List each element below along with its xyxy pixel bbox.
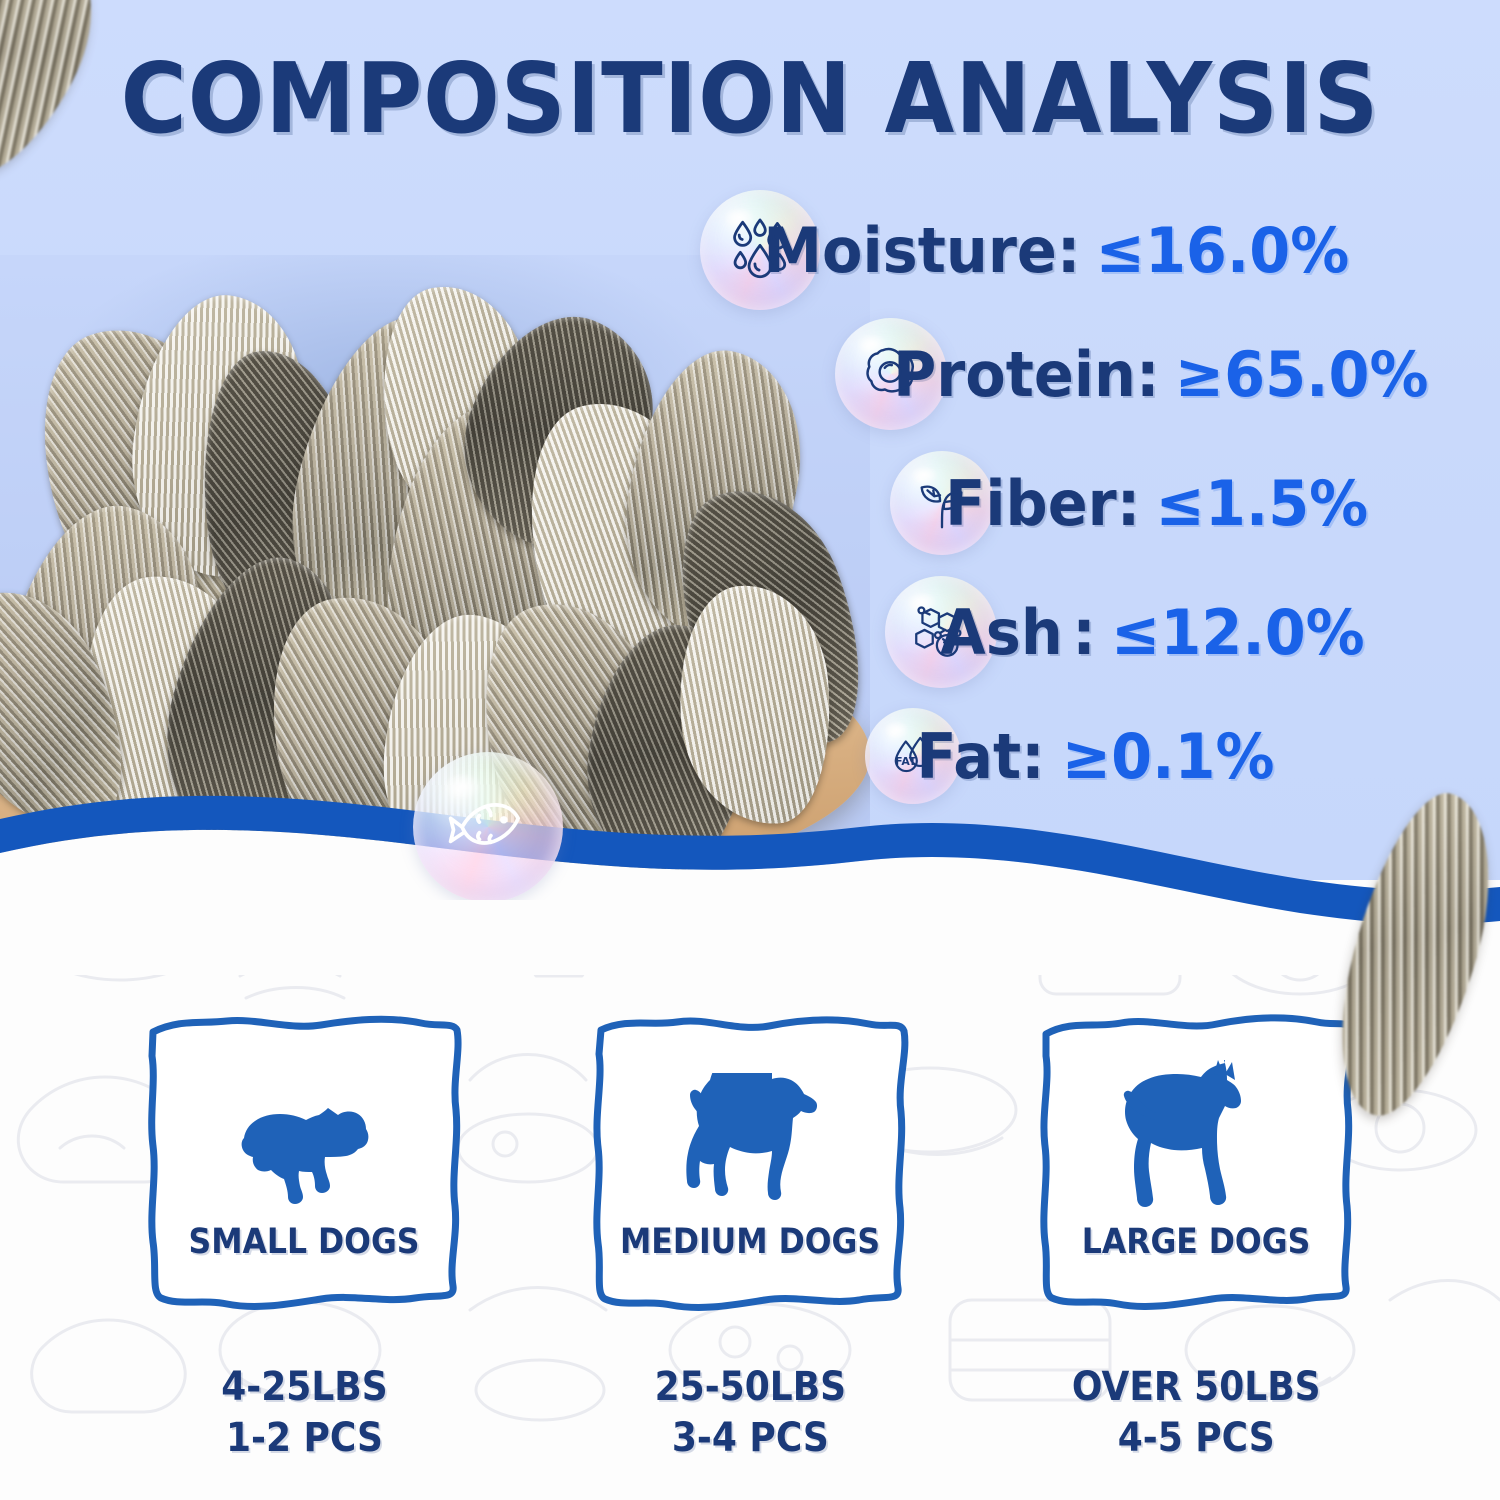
composition-separator-moisture: : xyxy=(1057,214,1081,287)
svg-text:FAT: FAT xyxy=(895,755,917,768)
feeding-card-title-large: LARGE DOGS xyxy=(1048,1222,1345,1262)
feeding-card-weight-small: 4-25LBS xyxy=(221,1362,387,1413)
composition-separator-protein: : xyxy=(1136,338,1160,411)
composition-separator-fat: : xyxy=(1021,720,1045,793)
molecule-dna-icon xyxy=(908,599,974,665)
medium-dog-silhouette xyxy=(676,1073,824,1208)
composition-operator-fiber: ≤ xyxy=(1155,467,1204,540)
fish-icon xyxy=(442,781,534,873)
composition-row-protein: Protein:≥65.0% xyxy=(835,310,1450,438)
composition-value-moisture: 16.0% xyxy=(1145,214,1349,287)
composition-separator-fiber: : xyxy=(1117,467,1141,540)
composition-list: Moisture:≤16.0% Protein:≥65.0% xyxy=(690,190,1450,816)
water-drops-icon xyxy=(723,213,797,287)
large-dog-silhouette-wrap xyxy=(1031,1058,1361,1208)
composition-text-protein: Protein:≥65.0% xyxy=(893,338,1428,411)
feeding-card-title-small: SMALL DOGS xyxy=(156,1222,453,1262)
composition-text-moisture: Moisture:≤16.0% xyxy=(763,214,1349,287)
wave-divider xyxy=(0,795,1500,975)
feeding-card-small-frame: SMALL DOGS xyxy=(139,1010,469,1320)
composition-value-fat: 0.1% xyxy=(1111,720,1274,793)
composition-label-moisture: Moisture xyxy=(763,214,1056,287)
small-dog-silhouette-wrap xyxy=(139,1058,469,1208)
feeding-card-weight-medium: 25-50LBS xyxy=(654,1362,845,1413)
small-dog-silhouette xyxy=(234,1098,374,1208)
feeding-card-medium-frame: MEDIUM DOGS xyxy=(585,1010,915,1320)
composition-row-fiber: Fiber:≤1.5% xyxy=(890,438,1450,568)
feeding-card-pieces-large: 4-5 PCS xyxy=(1072,1413,1321,1464)
feeding-card-large: LARGE DOGS OVER 50LBS 4-5 PCS xyxy=(1001,1010,1391,1464)
composition-text-ash: Ash:≤12.0% xyxy=(940,596,1365,669)
composition-separator-ash: : xyxy=(1072,596,1096,669)
composition-row-ash: Ash:≤12.0% xyxy=(885,568,1450,696)
leaf-plant-icon xyxy=(911,472,973,534)
composition-value-ash: 12.0% xyxy=(1160,596,1364,669)
feeding-card-pieces-medium: 3-4 PCS xyxy=(654,1413,845,1464)
feeding-card-meta-large: OVER 50LBS 4-5 PCS xyxy=(1058,1362,1334,1464)
fried-egg-icon xyxy=(858,341,924,407)
medium-dog-silhouette-wrap xyxy=(585,1058,915,1208)
fat-droplet-icon: FAT xyxy=(884,727,942,785)
composition-operator-ash: ≤ xyxy=(1111,596,1160,669)
feeding-card-medium: MEDIUM DOGS 25-50LBS 3-4 PCS xyxy=(555,1010,945,1464)
feeding-guide-cards: SMALL DOGS 4-25LBS 1-2 PCS MEDIUM DOG xyxy=(0,1010,1500,1464)
composition-section: COMPOSITION ANALYSIS xyxy=(0,0,1500,900)
feeding-card-meta-medium: 25-50LBS 3-4 PCS xyxy=(644,1362,857,1464)
composition-value-fiber: 1.5% xyxy=(1205,467,1368,540)
composition-text-fiber: Fiber:≤1.5% xyxy=(945,467,1368,540)
composition-row-moisture: Moisture:≤16.0% xyxy=(700,190,1450,310)
feeding-card-small: SMALL DOGS 4-25LBS 1-2 PCS xyxy=(109,1010,499,1464)
composition-label-protein: Protein xyxy=(893,338,1136,411)
fish-icon-bubble xyxy=(413,752,563,900)
feeding-card-weight-large: OVER 50LBS xyxy=(1072,1362,1321,1413)
composition-operator-fat: ≥ xyxy=(1062,720,1111,793)
wave-divider-shape xyxy=(0,795,1500,975)
feeding-card-title-medium: MEDIUM DOGS xyxy=(602,1222,899,1262)
feeding-card-pieces-small: 1-2 PCS xyxy=(221,1413,387,1464)
composition-operator-protein: ≥ xyxy=(1175,338,1224,411)
page-title: COMPOSITION ANALYSIS xyxy=(53,42,1448,155)
composition-value-protein: 65.0% xyxy=(1224,338,1428,411)
composition-operator-moisture: ≤ xyxy=(1096,214,1145,287)
feeding-card-large-frame: LARGE DOGS xyxy=(1031,1010,1361,1320)
feeding-card-meta-small: 4-25LBS 1-2 PCS xyxy=(212,1362,397,1464)
composition-text-fat: Fat:≥0.1% xyxy=(916,720,1274,793)
large-dog-silhouette xyxy=(1120,1058,1272,1208)
